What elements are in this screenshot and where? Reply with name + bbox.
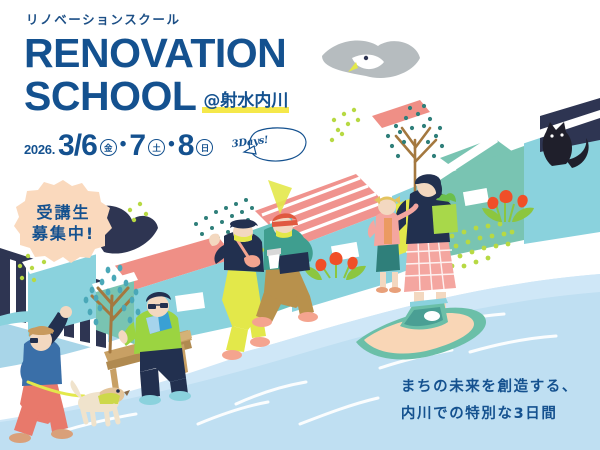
recruiting-badge-line-2: 募集中! bbox=[32, 225, 95, 243]
poster-canvas: リノベーションスクール RENOVATION SCHOOL @射水内川 2026… bbox=[0, 0, 600, 450]
recruiting-badge-label: 受講生 募集中! bbox=[13, 182, 114, 264]
recruiting-badge: 受講生 募集中! bbox=[13, 182, 114, 264]
recruiting-badge-line-1: 受講生 bbox=[36, 204, 90, 222]
